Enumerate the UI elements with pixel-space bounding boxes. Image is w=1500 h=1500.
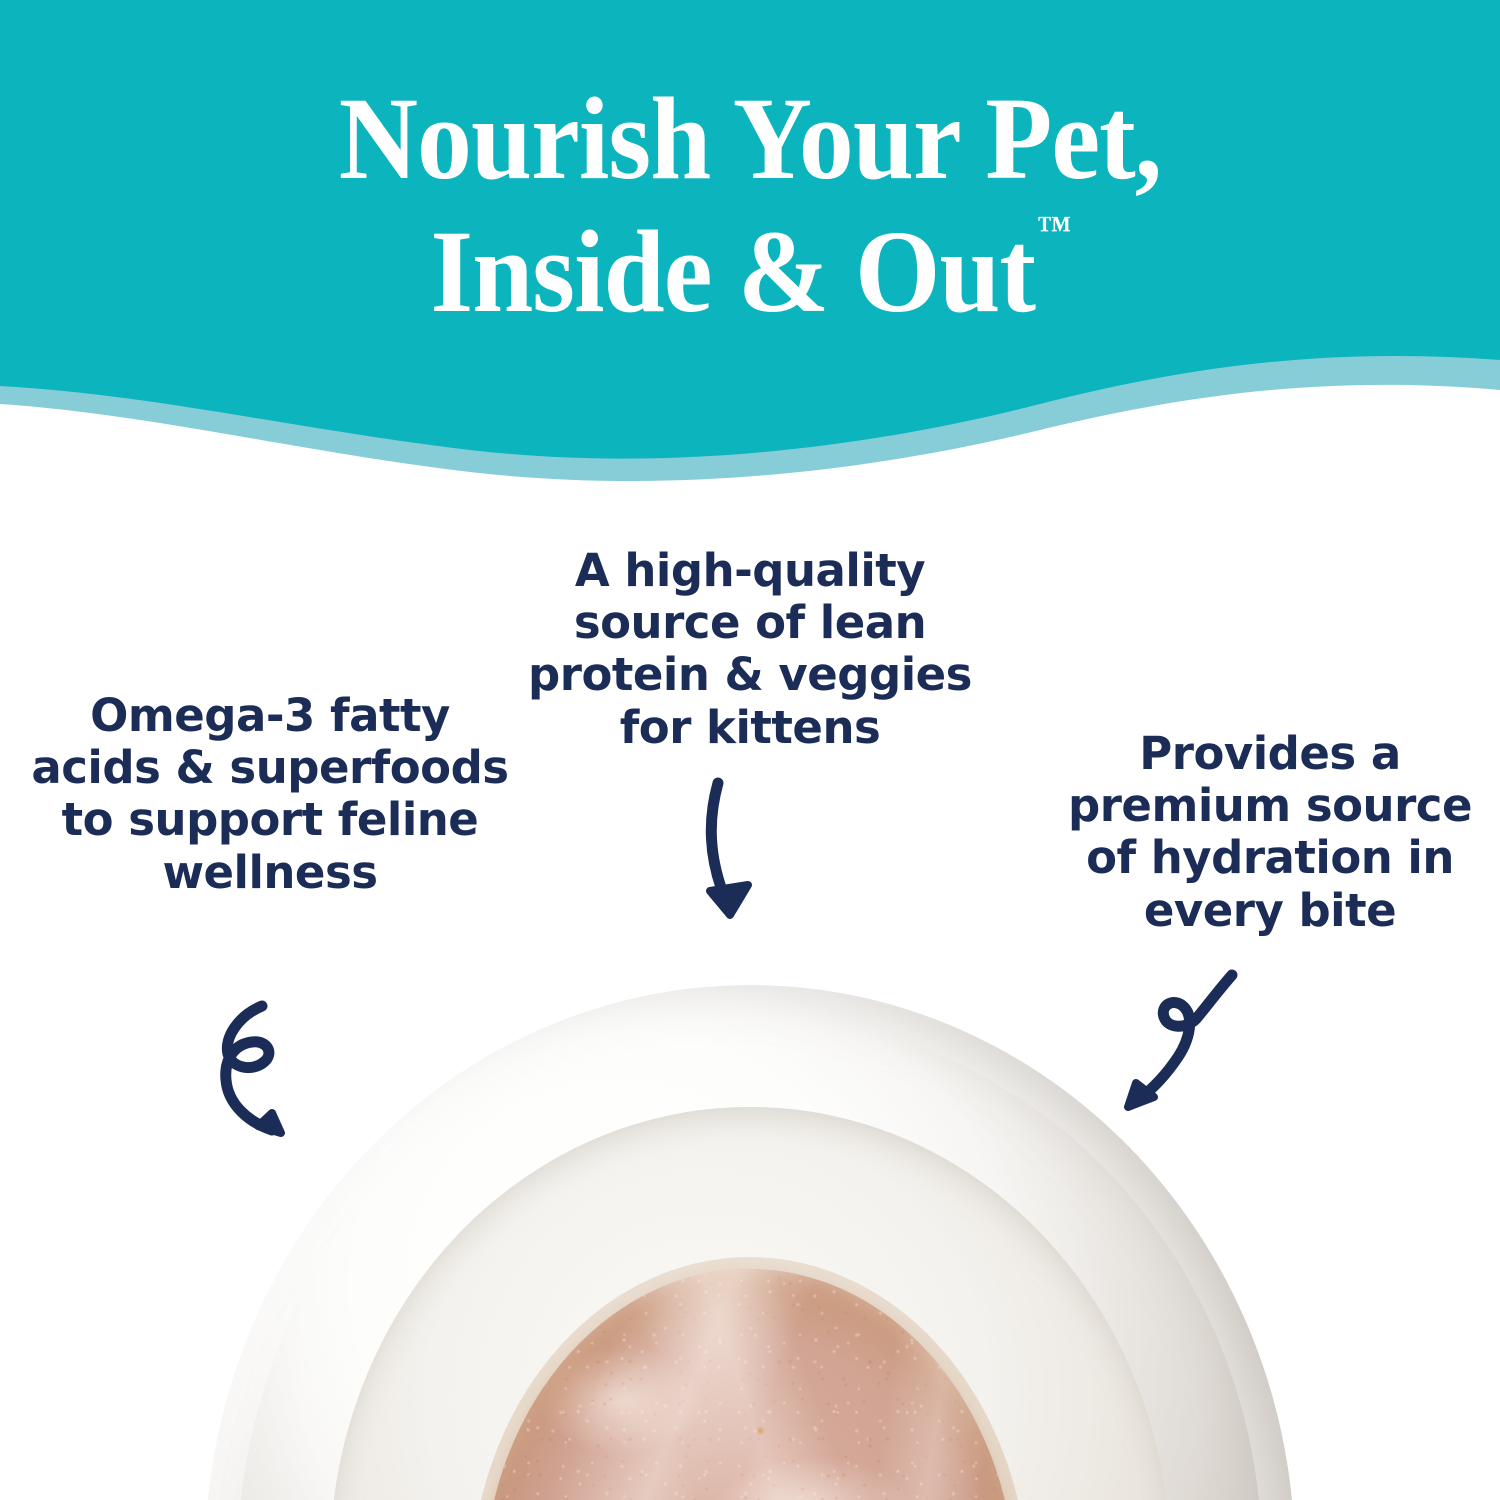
product-photo	[205, 985, 1295, 1500]
page-title: Nourish Your Pet, Inside & Out™	[0, 72, 1500, 339]
title-line-2: Inside & Out™	[53, 205, 1448, 338]
trademark-symbol: ™	[1037, 209, 1071, 250]
bowl-outer	[205, 985, 1295, 1500]
callout-hydration-text: Provides a premium source of hydration i…	[1040, 728, 1500, 937]
banner-wave-shape	[0, 0, 1500, 520]
wave-primary	[0, 0, 1500, 459]
header-banner: Nourish Your Pet, Inside & Out™	[0, 0, 1500, 520]
callout-protein-text: A high-quality source of lean protein & …	[500, 545, 1000, 754]
title-line-1: Nourish Your Pet,	[53, 72, 1448, 205]
curved-arrow-down-icon	[660, 775, 810, 935]
pate-food	[483, 1269, 1016, 1500]
food-sheen	[483, 1269, 1016, 1500]
wave-light-band	[0, 0, 1500, 481]
infographic-canvas: Nourish Your Pet, Inside & Out™ Omega-3 …	[0, 0, 1500, 1500]
title-line-2-text: Inside & Out	[430, 206, 1035, 337]
callout-omega3-text: Omega-3 fatty acids & superfoods to supp…	[30, 690, 510, 899]
